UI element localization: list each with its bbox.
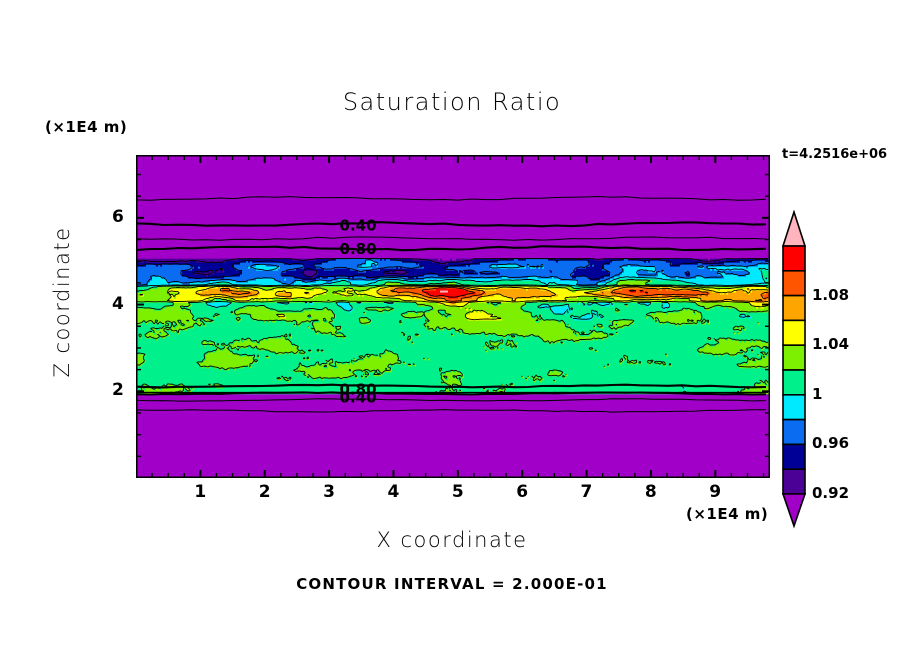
x-tick-label: 8: [645, 482, 657, 502]
x-axis-title: X coordinate: [0, 528, 904, 552]
colorbar-svg: [780, 210, 810, 530]
z-axis-units-label: (×1E4 m): [45, 118, 127, 136]
x-tick-label: 6: [516, 482, 528, 502]
y-tick-label: 6: [112, 207, 124, 227]
y-tick-labels: 246: [96, 155, 130, 478]
x-tick-label: 7: [581, 482, 593, 502]
colorbar-tick-label: 1: [812, 385, 822, 403]
x-tick-label: 5: [452, 482, 464, 502]
y-tick-label: 4: [112, 294, 124, 314]
colorbar-tick-label: 0.92: [812, 484, 849, 502]
colorbar-tick-label: 0.96: [812, 434, 849, 452]
colorbar: [780, 210, 810, 530]
x-tick-label: 1: [194, 482, 206, 502]
x-tick-label: 4: [387, 482, 399, 502]
contour-field-svg: 0.400.800.800.40: [136, 155, 770, 478]
page-title: Saturation Ratio: [0, 88, 904, 116]
contour-plot: 0.400.800.800.40: [136, 155, 770, 478]
contour-label-3: 0.40: [340, 388, 377, 406]
x-tick-labels: 123456789: [136, 482, 770, 506]
x-tick-label: 9: [709, 482, 721, 502]
contour-interval-note: CONTOUR INTERVAL = 2.000E-01: [0, 575, 904, 593]
x-tick-label: 2: [259, 482, 271, 502]
contour-label-0: 0.40: [340, 216, 377, 234]
x-tick-label: 3: [323, 482, 335, 502]
time-annotation: t=4.2516e+06: [782, 147, 887, 162]
colorbar-labels: 1.081.0410.960.92: [812, 210, 892, 530]
colorbar-tick-label: 1.08: [812, 286, 849, 304]
colorbar-tick-label: 1.04: [812, 335, 849, 353]
y-axis-title: Z coordinate: [50, 212, 74, 392]
contour-label-1: 0.80: [340, 240, 377, 258]
y-tick-label: 2: [112, 380, 124, 400]
x-axis-units-label: (×1E4 m): [686, 505, 768, 523]
